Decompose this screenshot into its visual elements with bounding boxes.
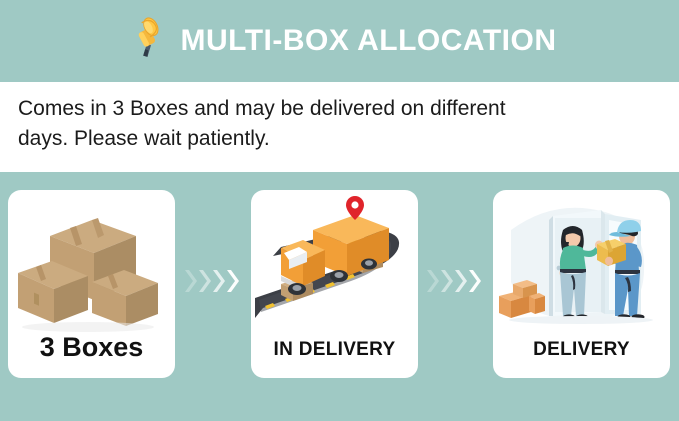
connector-1 bbox=[184, 268, 239, 294]
header-banner: MULTI-BOX ALLOCATION bbox=[0, 0, 679, 82]
chevron-arrows-right-icon bbox=[468, 268, 481, 294]
chevron-arrows-right-icon bbox=[454, 268, 467, 294]
delivery-truck-on-road-illustration bbox=[251, 190, 418, 338]
page-title: MULTI-BOX ALLOCATION bbox=[180, 24, 556, 58]
pushpin-icon bbox=[122, 16, 172, 66]
step-card-boxes: 3 Boxes bbox=[8, 190, 175, 378]
chevron-arrows-right-icon bbox=[184, 268, 197, 294]
step-card-in-delivery: IN DELIVERY bbox=[251, 190, 418, 378]
stacked-cardboard-boxes-illustration bbox=[8, 190, 175, 338]
subtitle-line-2: days. Please wait patiently. bbox=[18, 124, 661, 154]
steps-row: 3 Boxes bbox=[0, 172, 679, 421]
subtitle-band: Comes in 3 Boxes and may be delivered on… bbox=[0, 82, 679, 172]
chevron-arrows-right-icon bbox=[426, 268, 439, 294]
subtitle-line-1: Comes in 3 Boxes and may be delivered on… bbox=[18, 94, 661, 124]
map-pin-icon bbox=[346, 196, 364, 220]
multi-box-allocation-infographic: MULTI-BOX ALLOCATION Comes in 3 Boxes an… bbox=[0, 0, 679, 421]
step-label-boxes: 3 Boxes bbox=[8, 334, 175, 361]
step-label-in-delivery: IN DELIVERY bbox=[251, 340, 418, 359]
courier-handing-parcel-at-door-illustration bbox=[493, 190, 670, 338]
step-label-delivery: DELIVERY bbox=[493, 340, 670, 359]
step-card-delivery: DELIVERY bbox=[493, 190, 670, 378]
chevron-arrows-right-icon bbox=[212, 268, 225, 294]
chevron-arrows-right-icon bbox=[440, 268, 453, 294]
chevron-arrows-right-icon bbox=[198, 268, 211, 294]
chevron-arrows-right-icon bbox=[226, 268, 239, 294]
connector-2 bbox=[426, 268, 481, 294]
